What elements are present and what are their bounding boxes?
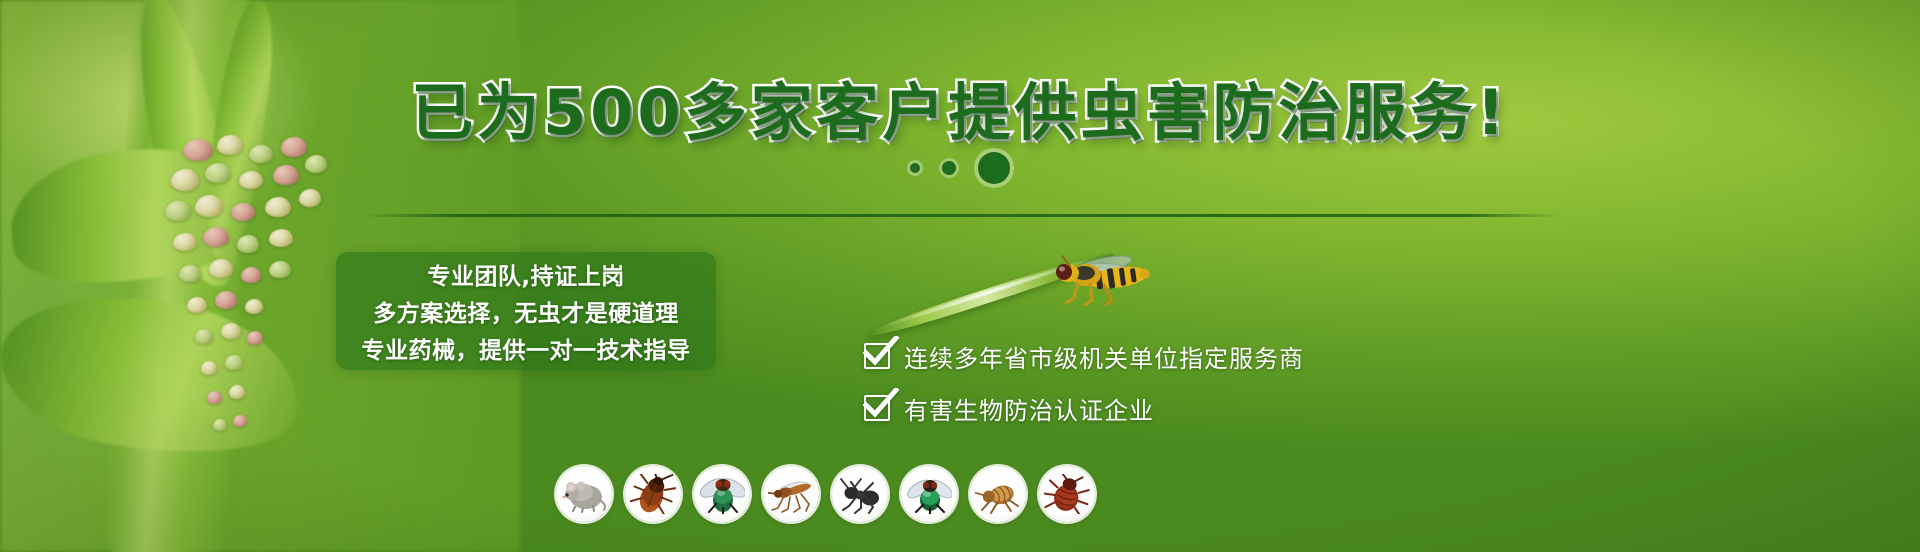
greenbottle-fly-icon[interactable] xyxy=(901,466,957,522)
list-item: 连续多年省市级机关单位指定服务商 xyxy=(864,330,1504,382)
cockroach-icon[interactable] xyxy=(625,466,681,522)
mosquito-icon[interactable] xyxy=(763,466,819,522)
feature-panel-text: 专业团队,持证上岗 多方案选择，无虫才是硬道理 专业药械，提供一对一技术指导 xyxy=(336,252,716,370)
dot-small-icon xyxy=(910,163,920,173)
dot-medium-icon xyxy=(942,161,956,175)
feature-line-3: 专业药械，提供一对一技术指导 xyxy=(362,331,691,365)
flea-icon[interactable] xyxy=(970,466,1026,522)
promo-banner: 已为500多家客户提供虫害防治服务! 专业团队,持证上岗 多方案选择，无虫才是硬… xyxy=(0,0,1920,552)
divider xyxy=(360,214,1560,217)
housefly-icon[interactable] xyxy=(694,466,750,522)
bedbug-icon[interactable] xyxy=(1039,466,1095,522)
dot-large-icon xyxy=(978,152,1010,184)
hoverfly-icon xyxy=(1052,248,1158,306)
checkbox-checked-icon xyxy=(864,343,890,369)
feature-line-1: 专业团队,持证上岗 xyxy=(427,257,624,291)
checkbox-checked-icon xyxy=(864,395,890,421)
decorative-dots xyxy=(0,152,1920,184)
ant-icon[interactable] xyxy=(832,466,888,522)
list-item: 有害生物防治认证企业 xyxy=(864,382,1504,434)
certification-list: 连续多年省市级机关单位指定服务商 有害生物防治认证企业 xyxy=(864,330,1504,434)
certification-label: 有害生物防治认证企业 xyxy=(904,391,1154,426)
feature-line-2: 多方案选择，无虫才是硬道理 xyxy=(373,294,679,328)
certification-label: 连续多年省市级机关单位指定服务商 xyxy=(904,339,1304,374)
pest-icon-list xyxy=(556,466,1095,522)
mouse-icon[interactable] xyxy=(556,466,612,522)
